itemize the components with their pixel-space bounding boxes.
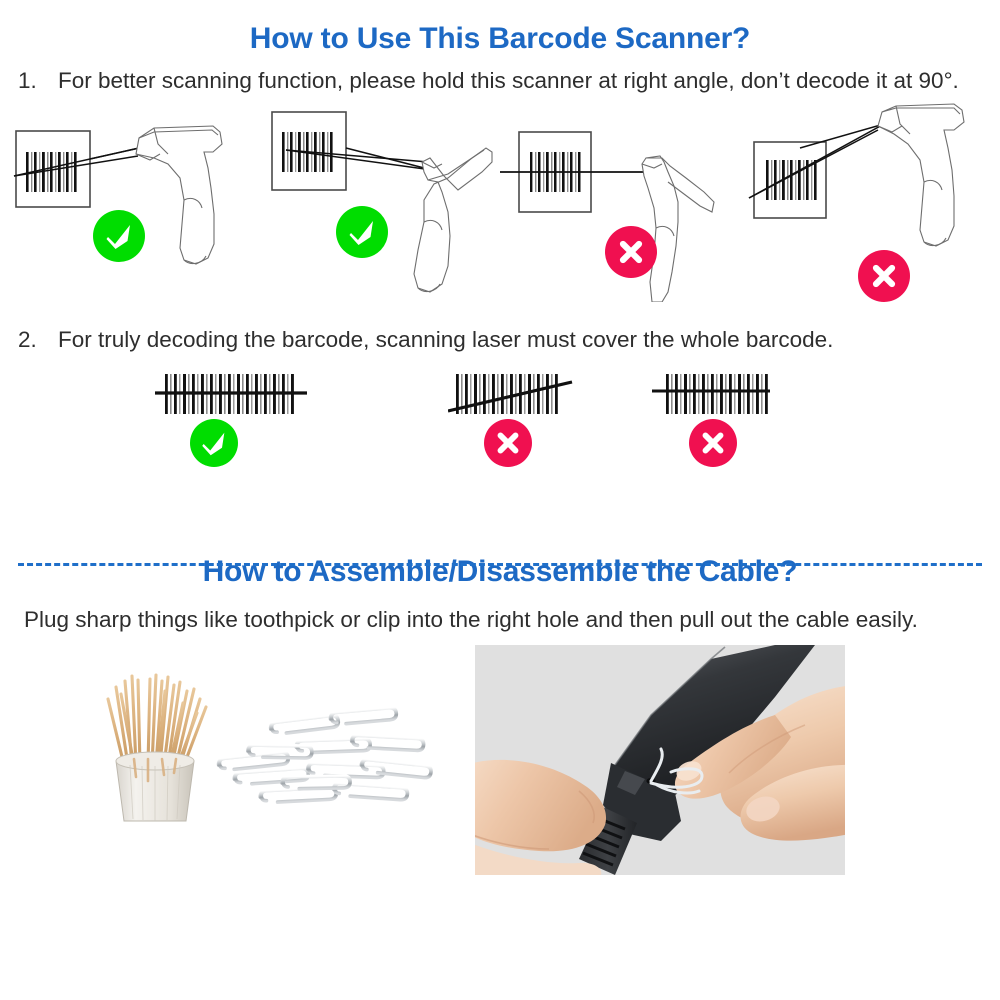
figure-barcode-scanner-perpendicular: [500, 122, 740, 307]
page-title-how-to-use: How to Use This Barcode Scanner?: [0, 0, 1000, 56]
instruction-2: 2. For truly decoding the barcode, scann…: [0, 315, 1000, 357]
toothpick-bundle: [108, 674, 206, 765]
cross-icon: [492, 427, 524, 459]
check-icon: [345, 215, 379, 249]
laser-coverage-figure-row: [0, 361, 1000, 491]
section-divider: [18, 563, 982, 566]
scanner-outline: [642, 156, 714, 302]
instruction-2-number: 2.: [18, 323, 58, 357]
check-icon: [102, 219, 136, 253]
cross-icon-badge-1: [605, 226, 657, 278]
scanner-outline: [414, 148, 492, 292]
cross-icon: [697, 427, 729, 459]
instruction-1: 1. For better scanning function, please …: [0, 56, 1000, 98]
figure-laser-covers-whole-barcode: [155, 369, 315, 424]
check-icon-badge-1: [93, 210, 145, 262]
instruction-2-text: For truly decoding the barcode, scanning…: [58, 323, 992, 357]
check-icon-badge-3: [190, 419, 238, 467]
barcode-bars: [456, 374, 558, 414]
assemble-instruction-text: Plug sharp things like toothpick or clip…: [0, 589, 1000, 637]
figure-laser-too-short: [652, 369, 787, 424]
assemble-photo-row: [0, 643, 1000, 915]
cable-release-photo: [475, 645, 845, 875]
scanner-angled-left-drawing: [8, 104, 258, 304]
cross-icon-badge-2: [858, 250, 910, 302]
figure-barcode-scanner-angled-right: [252, 100, 502, 315]
scanner-outline: [878, 104, 964, 246]
figure-laser-diagonal-partial: [448, 369, 588, 424]
cross-icon: [867, 259, 901, 293]
scanner-outline: [136, 126, 222, 264]
check-icon: [198, 427, 230, 459]
scanner-angle-figure-row: [0, 100, 1000, 315]
laser-too-short-drawing: [652, 369, 787, 419]
cross-icon-badge-4: [689, 419, 737, 467]
figure-barcode-scanner-steep-diagonal: [732, 100, 1000, 305]
figure-barcode-scanner-angled-left: [8, 104, 258, 309]
barcode-bars: [666, 374, 768, 414]
scanner-angled-right-drawing: [252, 100, 502, 310]
cross-icon: [614, 235, 648, 269]
check-icon-badge-2: [336, 206, 388, 258]
instruction-1-text: For better scanning function, please hol…: [58, 64, 992, 98]
paper-clips-photo: [212, 701, 457, 819]
cross-icon-badge-3: [484, 419, 532, 467]
paper-clip-pile: [218, 707, 432, 803]
instruction-1-number: 1.: [18, 64, 58, 98]
laser-diagonal-drawing: [448, 369, 588, 419]
laser-full-coverage-drawing: [155, 369, 315, 419]
